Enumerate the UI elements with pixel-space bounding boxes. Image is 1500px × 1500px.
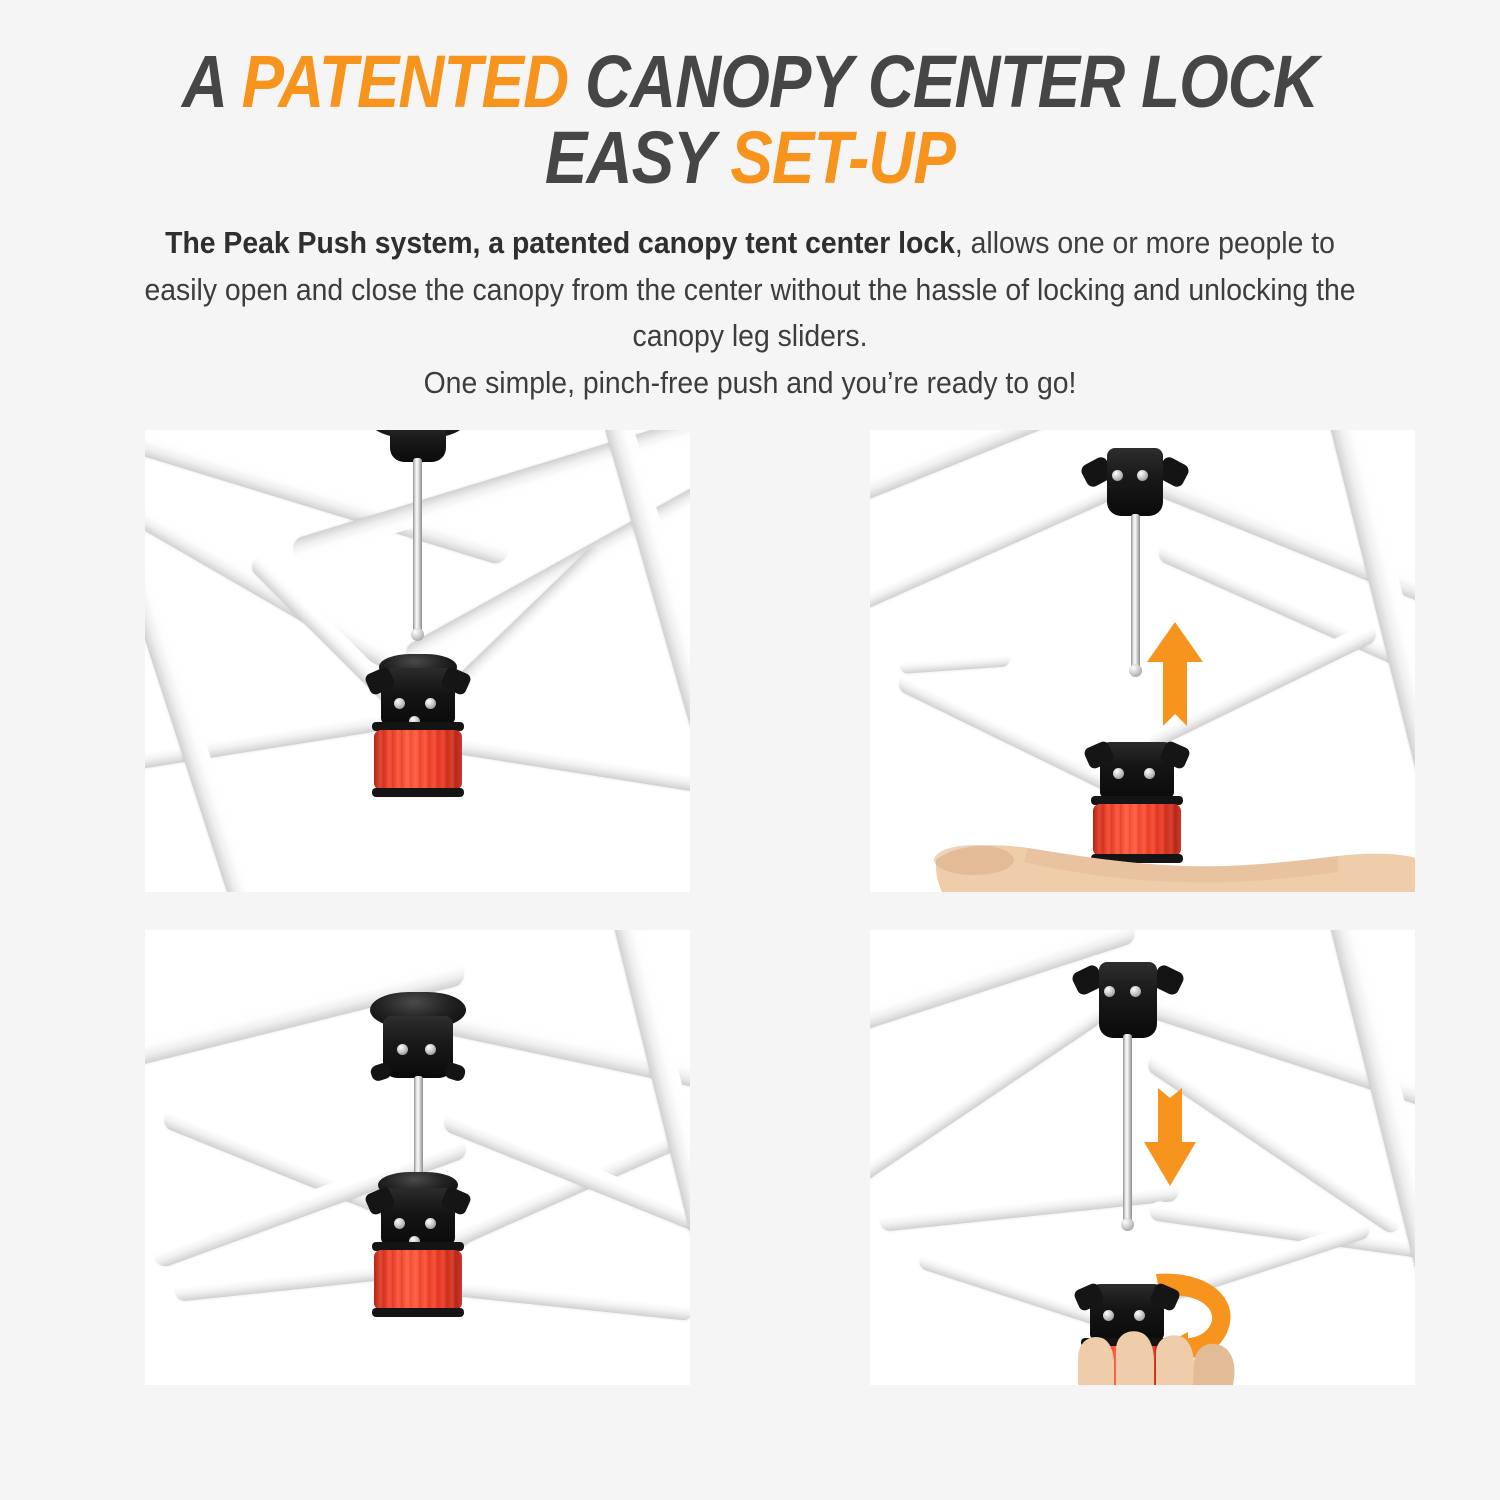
peak-body xyxy=(1099,962,1157,1038)
canopy-leg-tube xyxy=(145,430,283,892)
center-lock xyxy=(393,1178,443,1328)
push-rod xyxy=(413,458,422,633)
push-rod-engaged xyxy=(414,1076,423,1186)
center-lock xyxy=(393,660,443,800)
description-lead: The Peak Push system, a patented canopy … xyxy=(165,226,955,260)
lock-drum xyxy=(374,730,462,790)
headline-line1-part1: A xyxy=(182,40,242,123)
peak-screw xyxy=(1137,470,1148,481)
truss-tube xyxy=(434,1274,690,1321)
panel-twist-down xyxy=(870,930,1415,1385)
panel-open-unlocked xyxy=(145,430,690,892)
truss-tube xyxy=(870,479,1118,619)
canopy-leg-tube xyxy=(1325,930,1415,1385)
lock-hub xyxy=(381,1188,455,1244)
lock-drum xyxy=(374,1250,462,1310)
panel-locked xyxy=(145,930,690,1385)
lock-screw xyxy=(425,1218,436,1229)
photo-panel-grid xyxy=(0,430,1500,1390)
headline-line-2: EASY SET-UP xyxy=(105,120,1395,196)
lock-hub xyxy=(381,668,455,724)
truss-tube xyxy=(443,730,690,805)
lock-hub xyxy=(1100,742,1174,798)
headline-block: A PATENTED CANOPY CENTER LOCK EASY SET-U… xyxy=(0,0,1500,196)
peak-fitting xyxy=(373,992,463,1082)
peak-screw xyxy=(425,1044,436,1055)
headline-line1-highlight: PATENTED xyxy=(242,40,569,123)
open-palm-hand xyxy=(928,816,1415,892)
lock-drum-cap-bottom xyxy=(372,788,464,797)
peak-screw xyxy=(397,1044,408,1055)
description-paragraph: The Peak Push system, a patented canopy … xyxy=(132,220,1369,405)
headline-line1-part2: CANOPY CENTER LOCK xyxy=(568,40,1318,123)
lock-screw xyxy=(394,698,405,709)
panel-push-up xyxy=(870,430,1415,892)
peak-screw xyxy=(1130,986,1141,997)
lock-screw xyxy=(1144,768,1155,779)
push-down-arrow-icon xyxy=(1142,1078,1198,1186)
push-rod-tip xyxy=(411,628,424,641)
truss-tube xyxy=(879,1181,1179,1232)
lock-screw xyxy=(1134,1310,1145,1321)
description-closing: One simple, pinch-free push and you’re r… xyxy=(424,366,1077,400)
headline-line2-highlight: SET-UP xyxy=(730,116,955,199)
peak-fitting xyxy=(1095,448,1175,520)
peak-body xyxy=(1107,448,1163,516)
push-rod-tip xyxy=(1129,664,1142,677)
push-rod-tip xyxy=(1121,1218,1134,1231)
lock-screw xyxy=(1103,1310,1114,1321)
peak-fitting xyxy=(1088,962,1168,1042)
push-rod xyxy=(1123,1034,1132,1222)
peak-screw xyxy=(1112,470,1123,481)
headline-line-1: A PATENTED CANOPY CENTER LOCK xyxy=(105,44,1395,120)
headline-line2-part1: EASY xyxy=(545,116,731,199)
gripping-hand xyxy=(1038,1328,1298,1385)
truss-tube xyxy=(899,650,1010,674)
push-rod xyxy=(1131,514,1140,669)
push-up-arrow-icon xyxy=(1145,622,1205,738)
lock-screw xyxy=(425,698,436,709)
lock-screw xyxy=(394,1218,405,1229)
peak-ear xyxy=(443,1061,467,1082)
truss-tube xyxy=(896,671,1120,794)
lock-drum-cap-bottom xyxy=(372,1308,464,1317)
peak-screw xyxy=(1104,986,1115,997)
lock-screw xyxy=(1113,768,1124,779)
truss-tube xyxy=(870,1004,1104,1188)
peak-body xyxy=(383,1016,453,1078)
